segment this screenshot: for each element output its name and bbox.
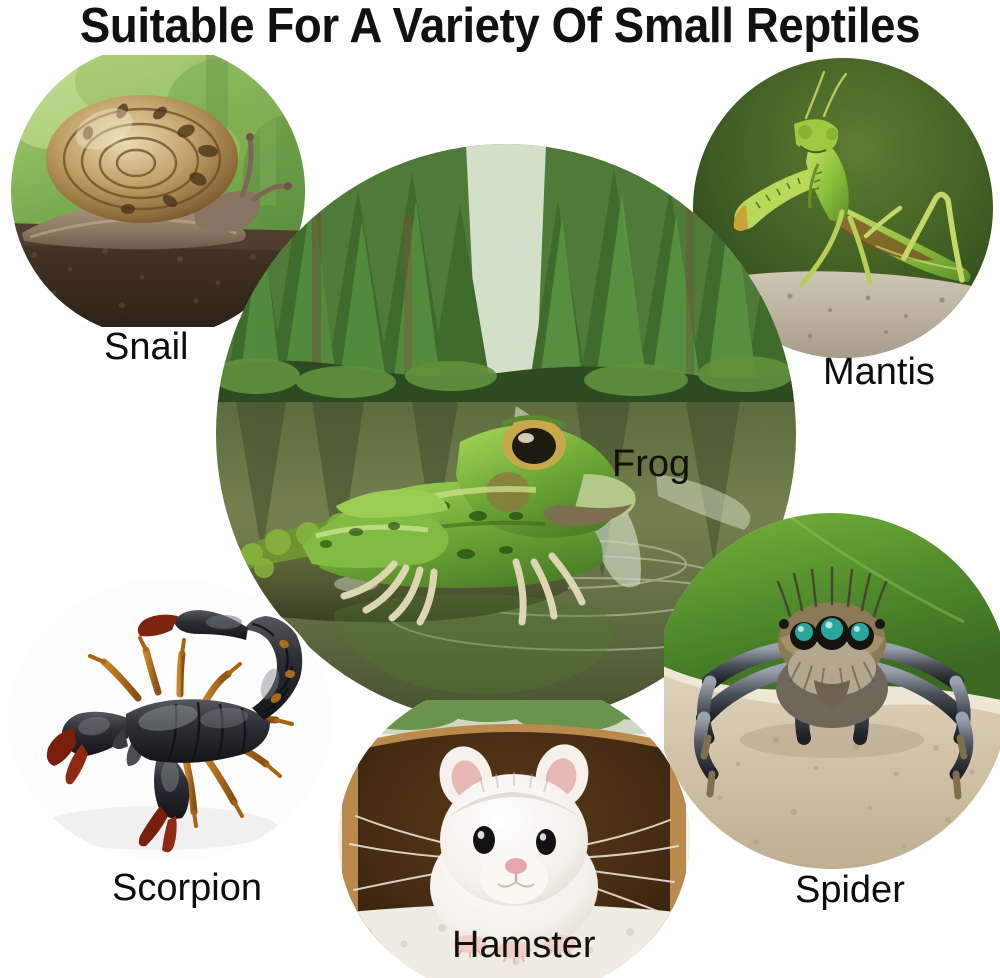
creature-label-snail: Snail [104,327,189,367]
creature-label-scorpion: Scorpion [112,868,262,908]
creature-label-spider: Spider [795,870,905,910]
page-title: Suitable For A Variety Of Small Reptiles [35,0,965,54]
collage-canvas: Suitable For A Variety Of Small Reptiles [0,0,1000,978]
creature-photo-spider[interactable] [664,512,1000,870]
creature-label-hamster: Hamster [452,925,596,965]
creature-photo-scorpion[interactable] [8,578,332,862]
creature-label-frog: Frog [612,444,690,484]
creature-label-mantis: Mantis [823,352,935,392]
